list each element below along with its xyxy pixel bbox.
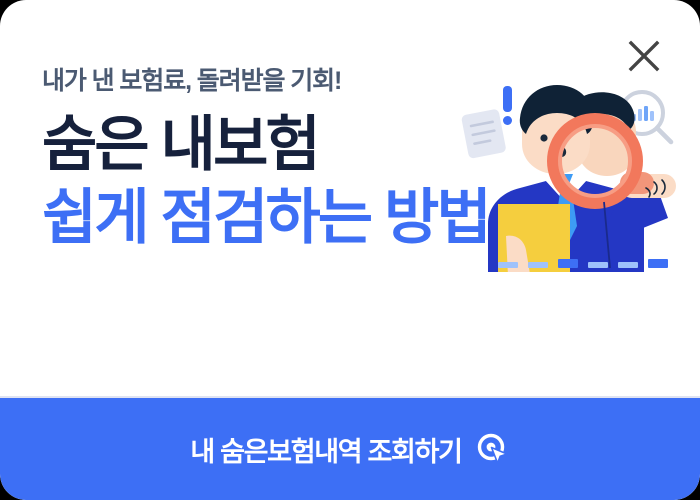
close-icon	[627, 39, 661, 73]
insurance-promo-banner: 내가 낸 보험료, 돌려받을 기회! 숨은 내보험 쉽게 점검하는 방법	[0, 0, 700, 500]
headline-line-1: 숨은 내보험	[42, 111, 489, 178]
eyebrow-text: 내가 낸 보험료, 돌려받을 기회!	[42, 66, 489, 97]
headline-block: 내가 낸 보험료, 돌려받을 기회! 숨은 내보험 쉽게 점검하는 방법	[42, 66, 489, 252]
businessman-with-magnifier-illustration	[458, 76, 694, 272]
headline-line-2: 쉽게 점검하는 방법	[42, 184, 489, 251]
search-cursor-icon	[476, 432, 510, 466]
cta-label: 내 숨은보험내역 조회하기	[190, 430, 461, 469]
close-button[interactable]	[618, 30, 670, 82]
cta-button[interactable]: 내 숨은보험내역 조회하기	[0, 398, 700, 500]
exclamation-mark-icon	[503, 86, 512, 125]
